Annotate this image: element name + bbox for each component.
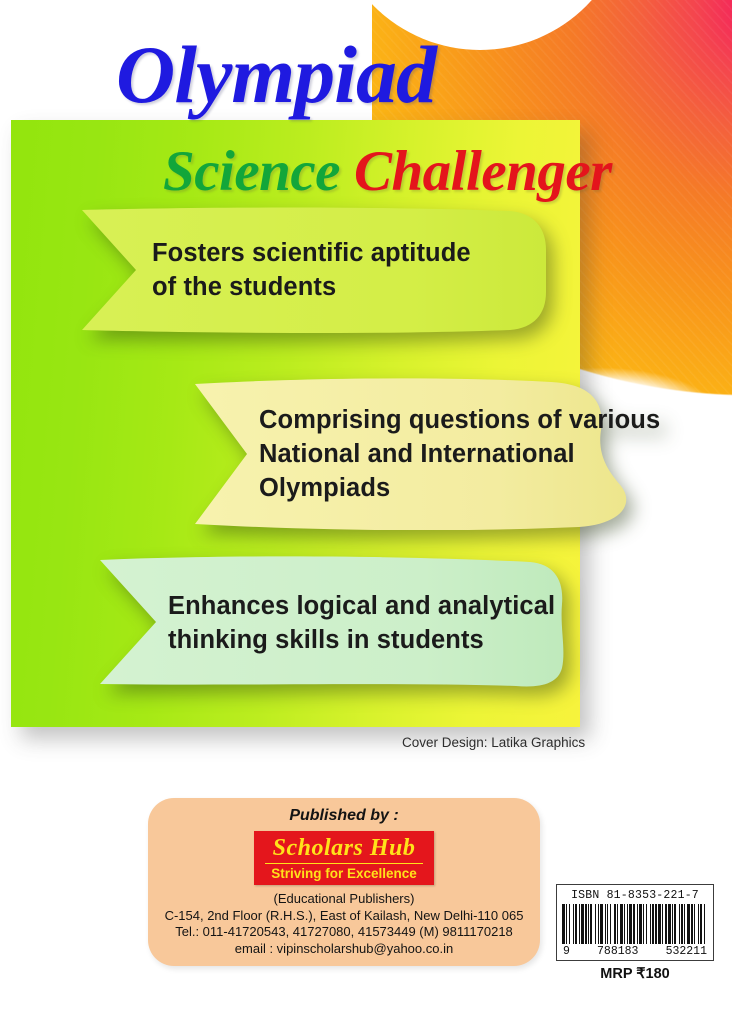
publisher-logo: Scholars Hub Striving for Excellence: [254, 831, 434, 885]
barcode-digit-left: 9: [563, 945, 570, 958]
subtitle-challenger: Challenger: [354, 140, 612, 203]
feature-ribbon-1: Fosters scientific aptitude of the stude…: [78, 206, 548, 334]
feature-ribbon-3: Enhances logical and analytical thinking…: [96, 556, 566, 690]
isbn-label: ISBN 81-8353-221-7: [562, 889, 708, 902]
publisher-line: Tel.: 011-41720543, 41727080, 41573449 (…: [148, 924, 540, 941]
feature-text-2: Comprising questions of various National…: [259, 403, 660, 505]
publisher-address-block: (Educational Publishers) C-154, 2nd Floo…: [148, 891, 540, 957]
page-subtitle: ScienceChallenger: [163, 143, 612, 200]
published-by-label: Published by :: [148, 807, 540, 825]
publisher-line: email : vipinscholarshub@yahoo.co.in: [148, 941, 540, 958]
barcode-frame: ISBN 81-8353-221-7 9 788183 532211: [556, 884, 714, 961]
publisher-line: (Educational Publishers): [148, 891, 540, 908]
feature-text-1: Fosters scientific aptitude of the stude…: [152, 236, 471, 304]
page-title: Olympiad: [116, 34, 436, 116]
barcode-digit-group-2: 532211: [666, 945, 707, 958]
barcode-digit-group-1: 788183: [597, 945, 638, 958]
publisher-panel: Published by : Scholars Hub Striving for…: [148, 798, 540, 966]
publisher-logo-tagline: Striving for Excellence: [254, 865, 434, 883]
barcode-digits: 9 788183 532211: [562, 945, 708, 958]
publisher-logo-name: Scholars Hub: [254, 831, 434, 863]
barcode-block: ISBN 81-8353-221-7 9 788183 532211 MRP ₹…: [556, 884, 714, 982]
feature-text-3: Enhances logical and analytical thinking…: [168, 589, 555, 657]
barcode-bars: [562, 904, 708, 944]
feature-ribbon-2: Comprising questions of various National…: [191, 378, 661, 530]
publisher-line: C-154, 2nd Floor (R.H.S.), East of Kaila…: [148, 908, 540, 925]
cover-design-credit: Cover Design: Latika Graphics: [402, 735, 585, 750]
book-back-cover: Olympiad ScienceChallenger Fosters scien…: [0, 0, 732, 1024]
mrp-price: MRP ₹180: [556, 966, 714, 982]
subtitle-science: Science: [163, 140, 340, 203]
logo-divider: [265, 863, 423, 864]
